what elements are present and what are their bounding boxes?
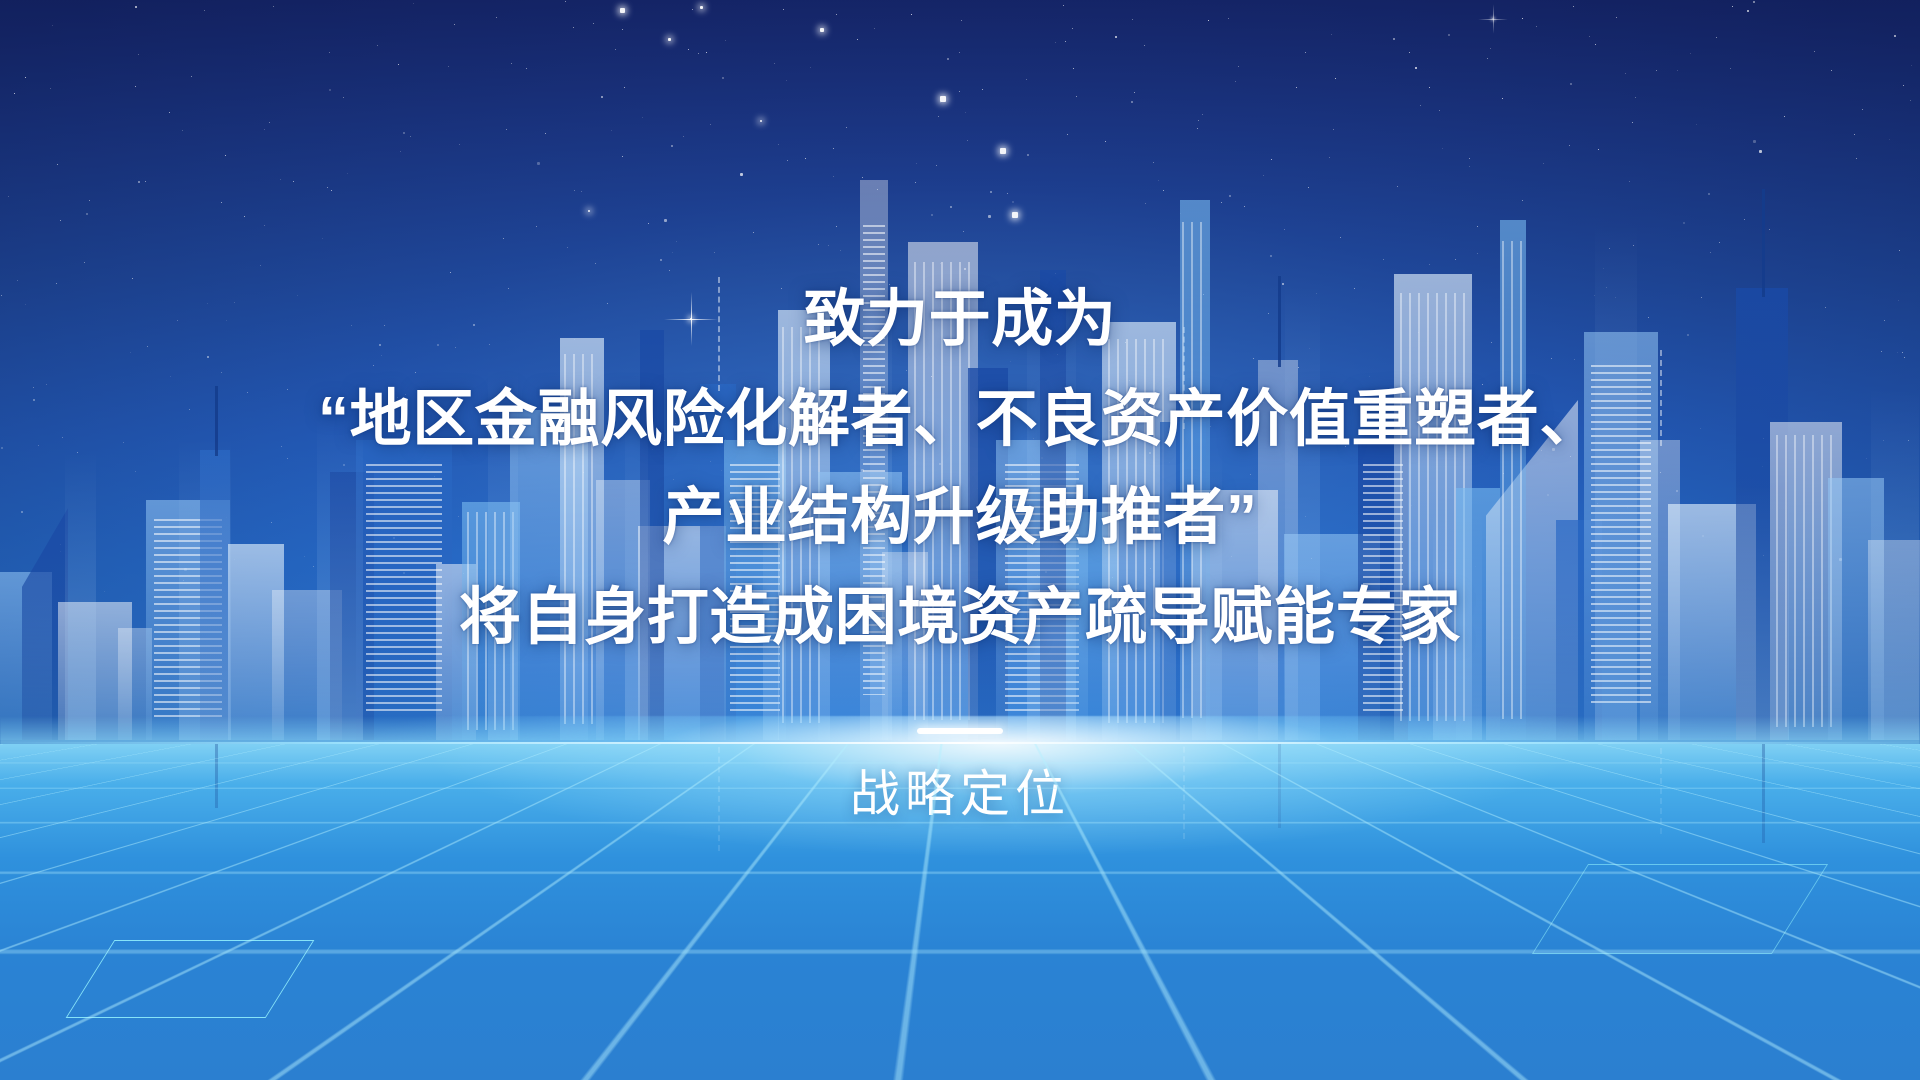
headline-line-2: “地区金融风险化解者、不良资产价值重塑者、 <box>0 382 1920 458</box>
slide-canvas: 致力于成为 “地区金融风险化解者、不良资产价值重塑者、 产业结构升级助推者” 将… <box>0 0 1920 1080</box>
headline-line-4: 将自身打造成困境资产疏导赋能专家 <box>0 580 1920 656</box>
headline-line-3: 产业结构升级助推者” <box>0 480 1920 556</box>
subtitle-divider <box>917 728 1003 734</box>
subtitle: 战略定位 <box>0 762 1920 826</box>
headline-line-1: 致力于成为 <box>0 282 1920 358</box>
text-content: 致力于成为 “地区金融风险化解者、不良资产价值重塑者、 产业结构升级助推者” 将… <box>0 0 1920 1080</box>
